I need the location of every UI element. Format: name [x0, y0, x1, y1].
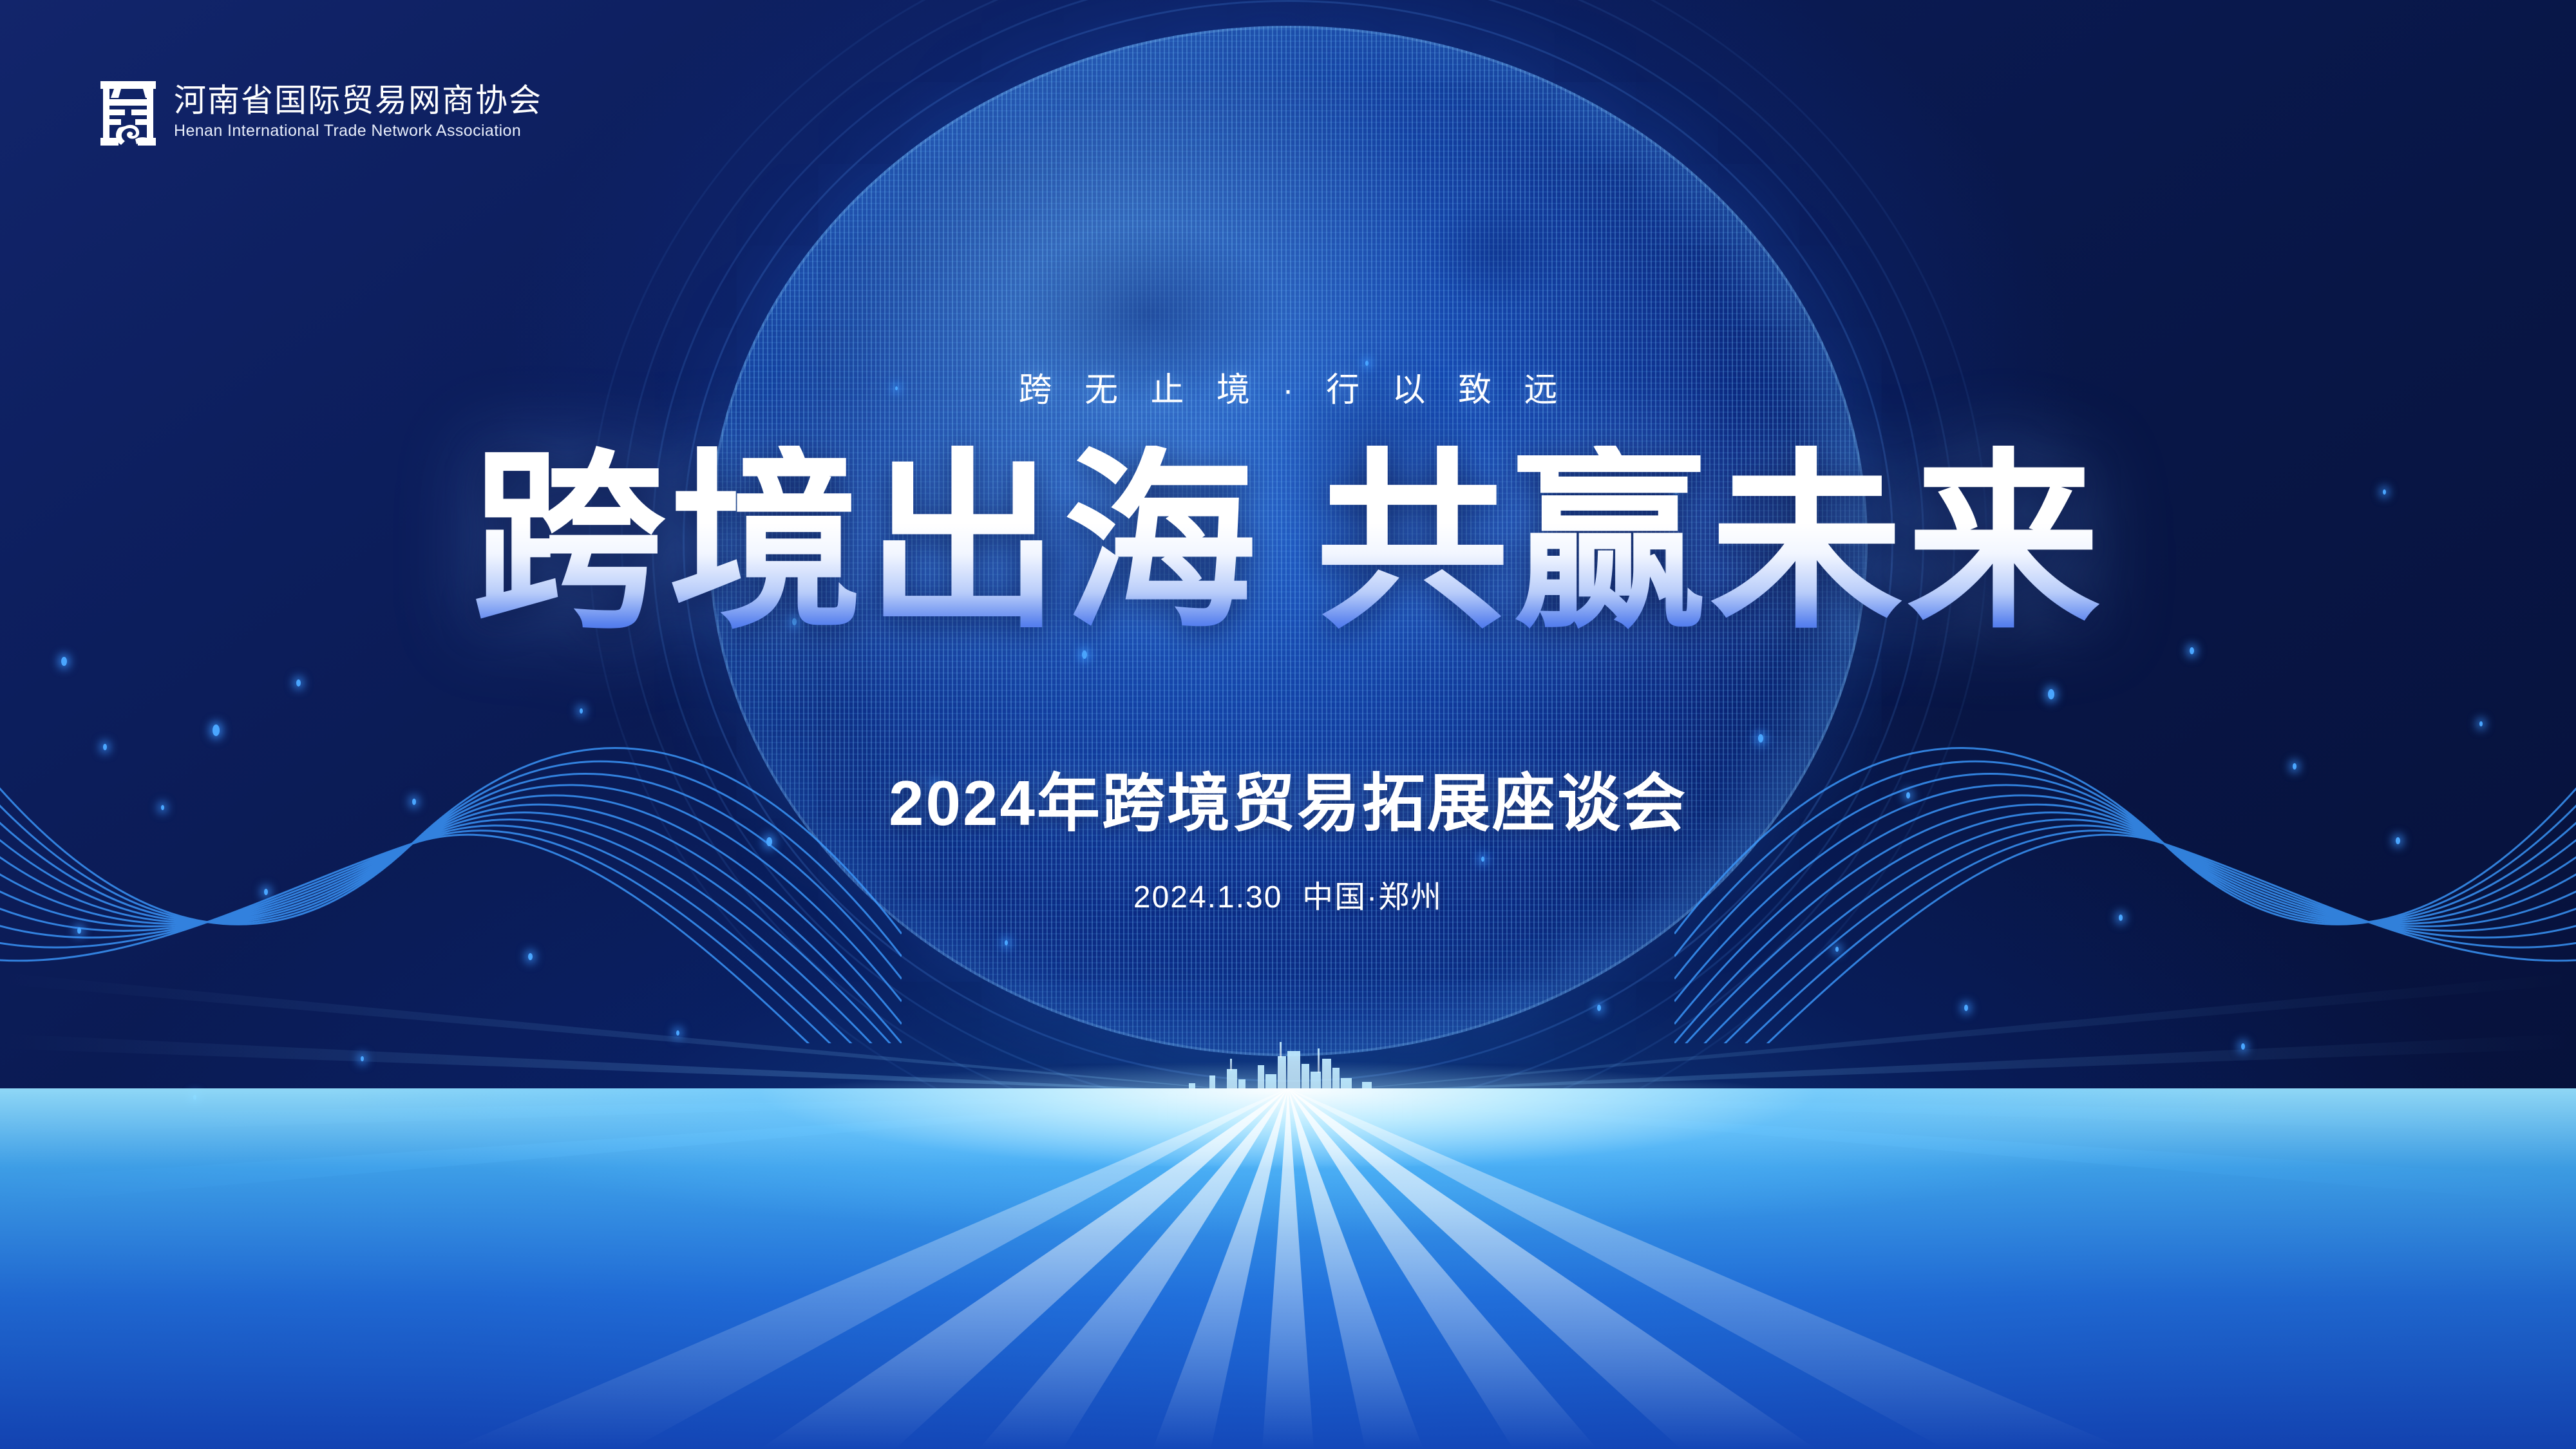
- glow-particle: [2241, 1043, 2245, 1050]
- henan-seal-logo-icon: [97, 77, 160, 147]
- glow-particle: [580, 708, 583, 714]
- poster-tagline: 跨 无 止 境 · 行 以 致 远: [0, 363, 2576, 411]
- glow-particle: [61, 657, 67, 666]
- glow-particle: [1964, 1005, 1968, 1011]
- brand-name-en: Henan International Trade Network Associ…: [174, 121, 542, 140]
- brand-name-cn: 河南省国际贸易网商协会: [174, 84, 542, 118]
- event-location: 中国·郑州: [1302, 880, 1443, 914]
- glow-particle: [296, 679, 301, 687]
- glow-particle: [213, 724, 220, 736]
- headline-part-2: 共赢未来: [1316, 434, 2104, 650]
- poster-headline: 跨境出海共赢未来: [0, 446, 2576, 639]
- headline-part-1: 跨境出海: [472, 434, 1260, 650]
- glow-particle: [1597, 1005, 1601, 1011]
- ground-light-rays-icon: [0, 1088, 2576, 1449]
- glow-particle: [1758, 734, 1763, 743]
- glow-particle: [528, 953, 533, 960]
- glow-particle: [676, 1030, 679, 1036]
- glow-particle: [77, 927, 81, 934]
- poster-subtitle: 2024年跨境贸易拓展座谈会: [0, 752, 2576, 844]
- poster-canvas: 河南省国际贸易网商协会 Henan International Trade Ne…: [0, 0, 2576, 1449]
- glow-particle: [103, 744, 107, 750]
- glow-particle: [2048, 689, 2054, 699]
- brand-text: 河南省国际贸易网商协会 Henan International Trade Ne…: [174, 84, 542, 141]
- glow-particle: [1835, 947, 1839, 952]
- glow-particle: [1082, 650, 1087, 659]
- poster-dateline: 2024.1.30 中国·郑州: [0, 871, 2576, 916]
- glow-particle: [1005, 940, 1008, 945]
- glow-particle: [1481, 857, 1484, 862]
- glow-particle: [2190, 647, 2194, 654]
- event-date: 2024.1.30: [1133, 880, 1283, 914]
- brand-logo[interactable]: 河南省国际贸易网商协会 Henan International Trade Ne…: [97, 77, 542, 147]
- glow-particle: [2479, 721, 2483, 726]
